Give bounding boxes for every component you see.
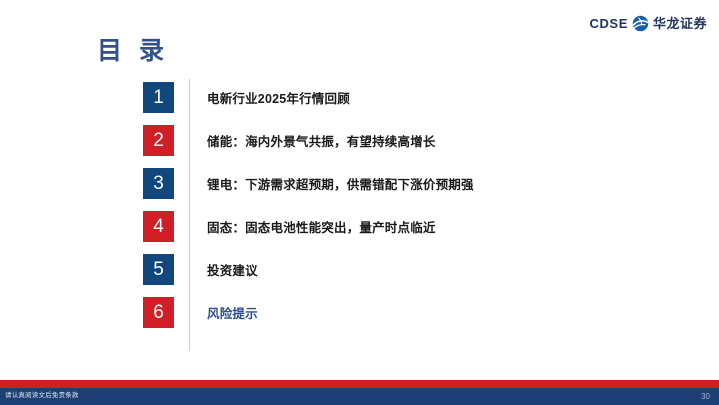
toc-number-badge: 6 [143, 297, 174, 328]
toc-item-3[interactable]: 3 锂电：下游需求超预期，供需错配下涨价预期强 [143, 165, 643, 201]
toc-number-badge: 4 [143, 211, 174, 242]
page-title: 目 录 [97, 36, 169, 66]
slide-canvas: CDSE 华龙证券 目 录 1 电新行业2025年行情回顾 2 储能：海内外景气… [0, 0, 719, 405]
toc-list: 1 电新行业2025年行情回顾 2 储能：海内外景气共振，有望持续高增长 3 锂… [143, 79, 643, 337]
toc-item-label: 投资建议 [207, 260, 258, 279]
toc-number-badge: 5 [143, 254, 174, 285]
toc-item-2[interactable]: 2 储能：海内外景气共振，有望持续高增长 [143, 122, 643, 158]
toc-item-label: 风险提示 [207, 303, 258, 322]
toc-number-badge: 1 [143, 82, 174, 113]
toc-item-label: 锂电：下游需求超预期，供需错配下涨价预期强 [207, 174, 474, 193]
footer-bar: 请认真阅读文后免责条款 30 [0, 388, 719, 405]
company-logo: CDSE 华龙证券 [589, 14, 707, 32]
toc-item-6[interactable]: 6 风险提示 [143, 294, 643, 330]
logo-text-en: CDSE [589, 17, 628, 30]
footer-disclaimer: 请认真阅读文后免责条款 [5, 393, 79, 400]
logo-text-cn: 华龙证券 [653, 17, 707, 30]
toc-item-label: 电新行业2025年行情回顾 [207, 88, 350, 107]
toc-number-badge: 3 [143, 168, 174, 199]
swirl-globe-icon [632, 15, 649, 32]
toc-item-label: 储能：海内外景气共振，有望持续高增长 [207, 131, 436, 150]
toc-item-label: 固态：固态电池性能突出，量产时点临近 [207, 217, 436, 236]
page-number: 30 [701, 393, 710, 401]
toc-item-5[interactable]: 5 投资建议 [143, 251, 643, 287]
toc-item-4[interactable]: 4 固态：固态电池性能突出，量产时点临近 [143, 208, 643, 244]
toc-number-badge: 2 [143, 125, 174, 156]
footer-red-bar [0, 380, 719, 388]
toc-item-1[interactable]: 1 电新行业2025年行情回顾 [143, 79, 643, 115]
